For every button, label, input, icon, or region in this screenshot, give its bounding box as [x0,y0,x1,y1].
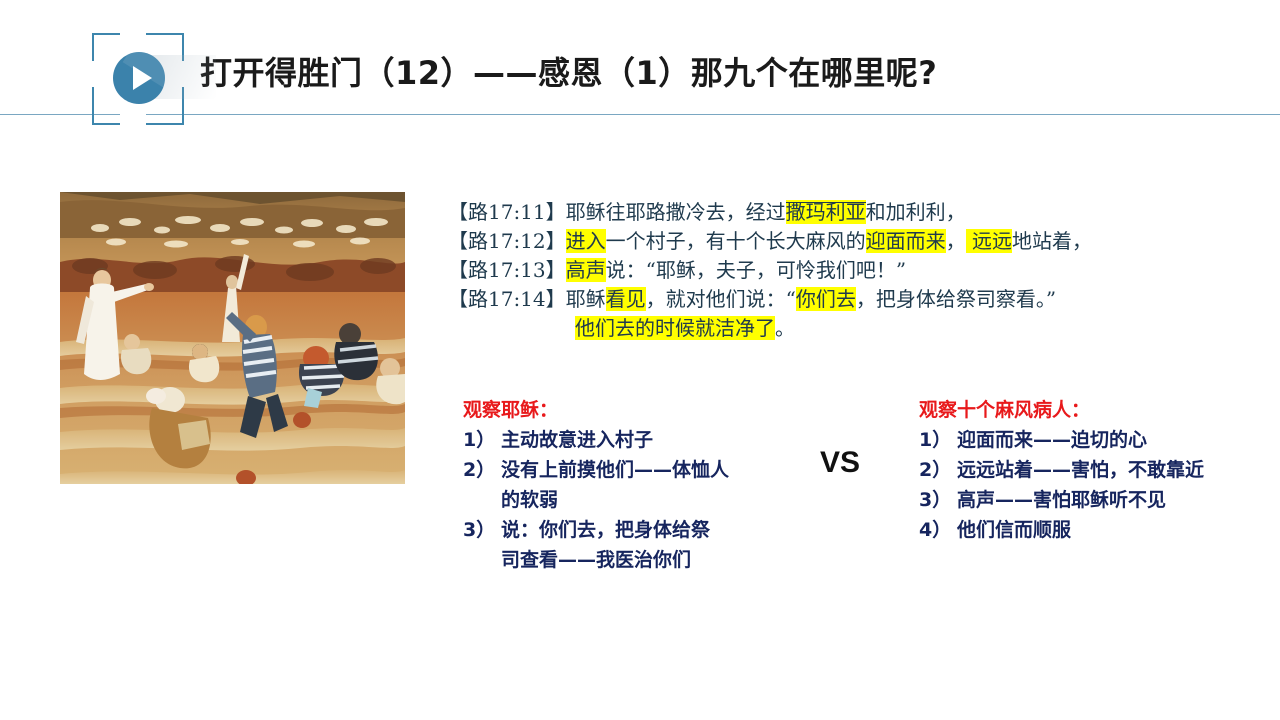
highlighted-text: 高声 [566,258,606,282]
painting-artwork [60,192,405,484]
list-item-number: 1） [463,425,501,455]
observation-lepers-list: 1）迎面而来——迫切的心2）远远站着——害怕，不敢靠近3）高声——害怕耶稣听不见… [919,425,1204,545]
highlighted-text: 看见 [606,287,646,311]
header-divider [0,114,1280,115]
list-item-text: 远远站着——害怕，不敢靠近 [957,455,1204,485]
observation-lepers-heading: 观察十个麻风病人： [919,395,1204,425]
list-item: 2）远远站着——害怕，不敢靠近 [919,455,1204,485]
scripture-line: 【路17:11】耶稣往耶路撒冷去，经过撒玛利亚和加利利， [448,198,1248,227]
list-item: 4）他们信而顺服 [919,515,1204,545]
list-item-number: 4） [919,515,957,545]
scripture-text: 说：“耶稣，夫子，可怜我们吧！” [606,258,906,282]
highlighted-text: 迎面而来 [866,229,946,253]
list-item-text: 主动故意进入村子 [501,425,653,455]
scripture-line: 【路17:14】耶稣看见，就对他们说：“你们去，把身体给祭司察看。” [448,285,1248,314]
list-item: 3）说：你们去，把身体给祭 司查看——我医治你们 [463,515,729,575]
list-item-number: 2） [463,455,501,485]
scripture-text: ，就对他们说：“ [646,287,796,311]
highlighted-text: 你们去 [796,287,856,311]
highlighted-text: 远远 [966,229,1012,253]
vs-label: VS [820,446,860,480]
highlighted-text: 进入 [566,229,606,253]
scripture-text: 耶稣往耶路撒冷去，经过 [566,200,786,224]
scripture-text: 。 [775,316,795,340]
scripture-text: 和加利利， [866,200,966,224]
observation-jesus-heading: 观察耶稣： [463,395,729,425]
list-item-number: 2） [919,455,957,485]
observation-lepers-column: 观察十个麻风病人： 1）迎面而来——迫切的心2）远远站着——害怕，不敢靠近3）高… [919,395,1204,545]
play-circle-icon [113,52,165,104]
scripture-text: 耶稣 [566,287,606,311]
list-item-text: 高声——害怕耶稣听不见 [957,485,1166,515]
list-item-number: 3） [919,485,957,515]
list-item-text: 说：你们去，把身体给祭 司查看——我医治你们 [501,515,710,575]
observation-jesus-column: 观察耶稣： 1）主动故意进入村子2）没有上前摸他们——体恤人 的软弱3）说：你们… [463,395,729,575]
scripture-text: ，把身体给祭司察看。” [856,287,1056,311]
list-item-text: 迎面而来——迫切的心 [957,425,1147,455]
scripture-text: 一个村子，有十个长大麻风的 [606,229,866,253]
list-item-number: 3） [463,515,501,545]
scripture-text: ， [946,229,966,253]
list-item-number: 1） [919,425,957,455]
list-item: 1）主动故意进入村子 [463,425,729,455]
scripture-line: 【路17:13】高声说：“耶稣，夫子，可怜我们吧！” [448,256,1248,285]
play-triangle-icon [133,66,152,90]
scripture-reference: 【路17:11】 [448,200,566,224]
list-item: 3）高声——害怕耶稣听不见 [919,485,1204,515]
scripture-line: 【路17:12】进入一个村子，有十个长大麻风的迎面而来， 远远地站着， [448,227,1248,256]
slide-header: 打开得胜门（12）——感恩（1）那九个在哪里呢? [0,0,1280,130]
highlighted-struck-text: 撒玛利亚 [786,200,866,224]
list-item: 2）没有上前摸他们——体恤人 的软弱 [463,455,729,515]
list-item-text: 没有上前摸他们——体恤人 的软弱 [501,455,729,515]
scripture-reference: 【路17:12】 [448,229,566,253]
scripture-passage: 【路17:11】耶稣往耶路撒冷去，经过撒玛利亚和加利利，【路17:12】进入一个… [448,198,1248,343]
page-title: 打开得胜门（12）——感恩（1）那九个在哪里呢? [200,48,937,94]
scripture-reference: 【路17:13】 [448,258,566,282]
scripture-text: 地站着， [1012,229,1092,253]
list-item: 1）迎面而来——迫切的心 [919,425,1204,455]
list-item-text: 他们信而顺服 [957,515,1071,545]
scripture-line: 他们去的时候就洁净了。 [448,314,1248,343]
highlighted-text: 他们去的时候就洁净了 [575,316,775,340]
observation-jesus-list: 1）主动故意进入村子2）没有上前摸他们——体恤人 的软弱3）说：你们去，把身体给… [463,425,729,575]
scripture-reference: 【路17:14】 [448,287,566,311]
scripture-illustration-image [60,192,405,484]
